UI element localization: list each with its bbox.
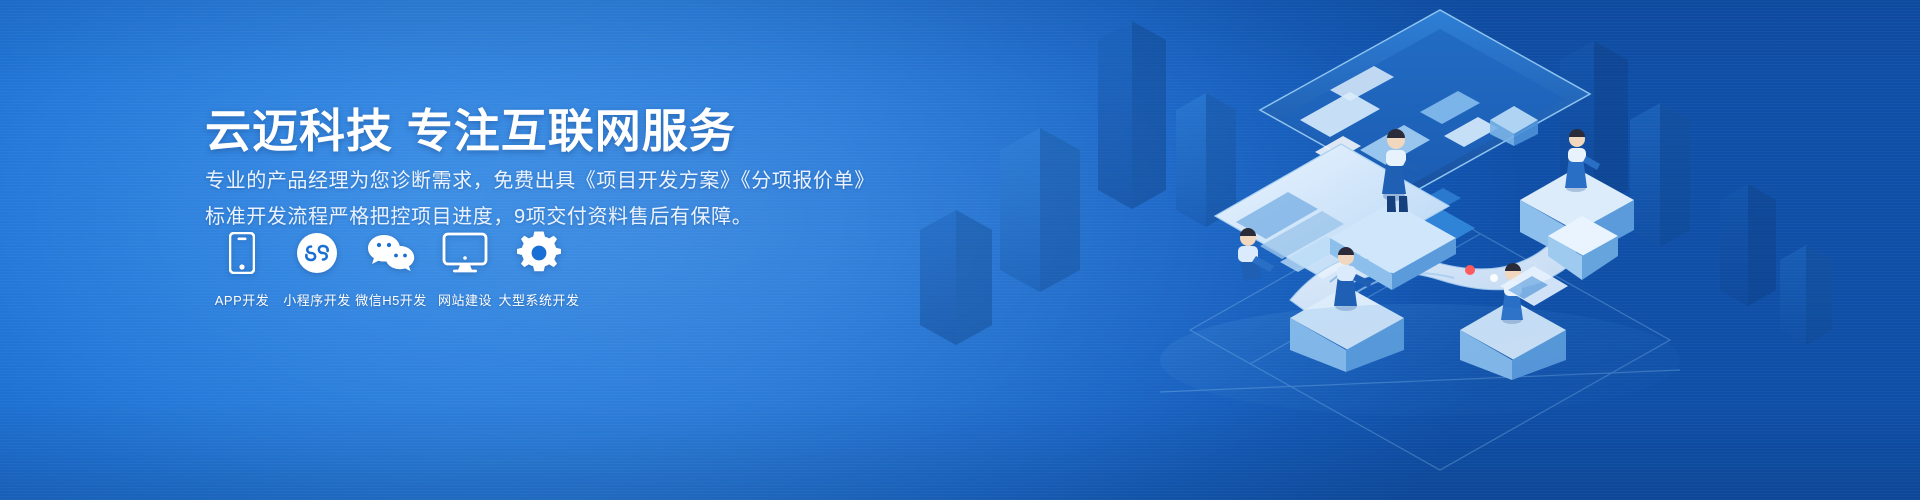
subtitle-line-1: 专业的产品经理为您诊断需求，免费出具《项目开发方案》《分项报价单》 <box>205 165 875 197</box>
banner-copy: 云迈科技 专注互联网服务 专业的产品经理为您诊断需求，免费出具《项目开发方案》《… <box>205 0 965 500</box>
service-label: 微信H5开发 <box>355 290 427 309</box>
service-label: APP开发 <box>215 290 270 309</box>
service-label: 大型系统开发 <box>499 290 580 309</box>
service-list: APP开发 小程序开发 <box>205 230 576 309</box>
page-title: 云迈科技 专注互联网服务 <box>205 105 736 157</box>
hero-banner: 云迈科技 专注互联网服务 专业的产品经理为您诊断需求，免费出具《项目开发方案》《… <box>0 0 1920 500</box>
mini-program-icon <box>296 230 338 276</box>
service-label: 网站建设 <box>438 290 492 309</box>
subtitle-line-2: 标准开发流程严格把控项目进度，9项交付资料售后有保障。 <box>205 201 752 233</box>
gear-icon <box>517 230 561 276</box>
isometric-illustration <box>860 0 1920 500</box>
wechat-icon <box>367 230 415 276</box>
service-item-system[interactable]: 大型系统开发 <box>502 230 576 309</box>
service-item-miniapp[interactable]: 小程序开发 <box>280 230 354 309</box>
service-item-app[interactable]: APP开发 <box>205 230 279 309</box>
mobile-phone-icon <box>229 230 255 276</box>
service-item-wechat[interactable]: 微信H5开发 <box>354 230 428 309</box>
service-item-website[interactable]: 网站建设 <box>428 230 502 309</box>
service-label: 小程序开发 <box>283 290 351 309</box>
monitor-icon <box>442 230 488 276</box>
